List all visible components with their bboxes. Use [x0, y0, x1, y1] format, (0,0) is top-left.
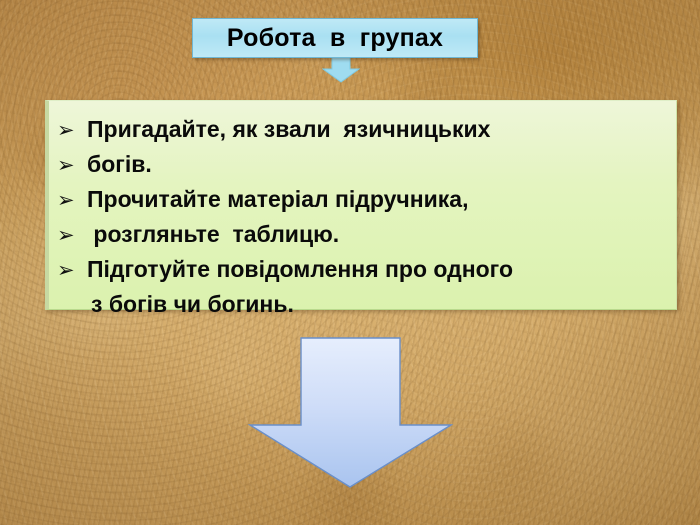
- arrow-bullet-icon: ➢: [57, 183, 87, 218]
- down-arrow-small-icon: [322, 57, 360, 83]
- list-item: ➢ богів.: [57, 147, 668, 182]
- arrow-bullet-icon: ➢: [57, 218, 87, 253]
- list-item-label: розгляньте таблицю.: [87, 217, 339, 252]
- list-item: ➢ розгляньте таблицю.: [57, 217, 668, 252]
- title-box: Робота в групах: [192, 18, 478, 58]
- down-arrow-large-icon: [248, 337, 453, 489]
- list-item-label: Прочитайте матеріал підручника,: [87, 182, 468, 217]
- list-item-continuation: з богів чи богинь.: [57, 287, 668, 322]
- list-item-label: Підготуйте повідомлення про одного: [87, 252, 513, 287]
- arrow-bullet-icon: ➢: [57, 113, 87, 148]
- list-item: ➢ Прочитайте матеріал підручника,: [57, 182, 668, 217]
- title-text: Робота в групах: [227, 26, 443, 51]
- list-item-label: Пригадайте, як звали язичницьких: [87, 112, 490, 147]
- instructions-box: ➢ Пригадайте, як звали язичницьких ➢ бог…: [45, 100, 677, 310]
- slide-canvas: Робота в групах ➢ Пригадайте, як звали я…: [0, 0, 700, 525]
- arrow-bullet-icon: ➢: [57, 148, 87, 183]
- list-item-label: з богів чи богинь.: [87, 287, 294, 322]
- list-item: ➢ Пригадайте, як звали язичницьких: [57, 112, 668, 147]
- list-item-label: богів.: [87, 147, 152, 182]
- arrow-bullet-icon: ➢: [57, 253, 87, 288]
- list-item: ➢ Підготуйте повідомлення про одного: [57, 252, 668, 287]
